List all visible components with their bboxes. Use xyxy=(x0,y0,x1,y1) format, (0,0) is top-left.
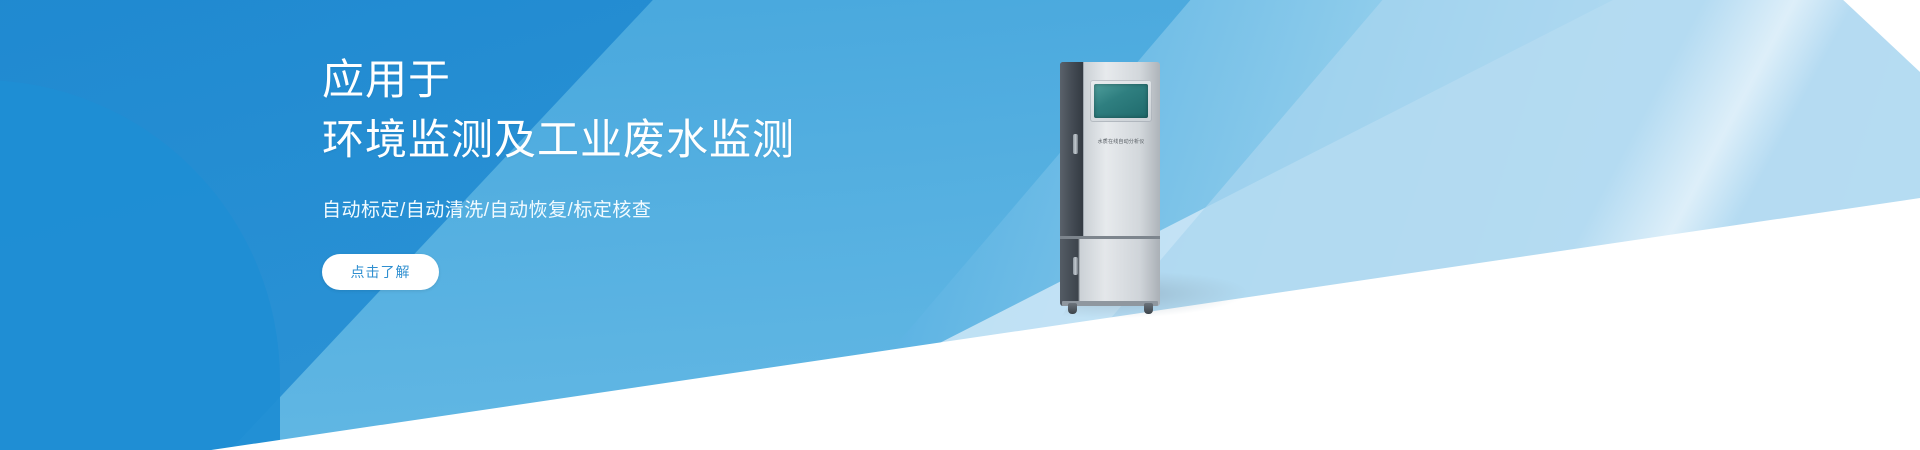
device-side-panel xyxy=(1060,62,1083,237)
headline-line-1: 应用于 xyxy=(322,56,451,103)
headline-line-2: 环境监测及工业废水监测 xyxy=(322,110,1022,170)
device-caster-right xyxy=(1144,303,1153,314)
hero-subtitle: 自动标定/自动清洗/自动恢复/标定核查 xyxy=(322,195,1022,222)
device-panel-label: 水质在线自动分析仪 xyxy=(1086,138,1156,145)
hero-content: 应用于 环境监测及工业废水监测 自动标定/自动清洗/自动恢复/标定核查 点击了解 xyxy=(322,50,1022,290)
device-lower-handle xyxy=(1073,257,1078,275)
device-seam xyxy=(1083,62,1084,237)
device-screen-bezel xyxy=(1090,80,1152,122)
page-title: 应用于 环境监测及工业废水监测 xyxy=(322,50,1022,169)
water-quality-analyzer-image: 水质在线自动分析仪 xyxy=(1060,62,1172,314)
learn-more-button[interactable]: 点击了解 xyxy=(322,254,439,290)
device-caster-left xyxy=(1068,303,1077,314)
device-upper-handle xyxy=(1073,134,1078,154)
hero-banner: 应用于 环境监测及工业废水监测 自动标定/自动清洗/自动恢复/标定核查 点击了解… xyxy=(0,0,1920,450)
device-display-screen xyxy=(1094,84,1148,118)
